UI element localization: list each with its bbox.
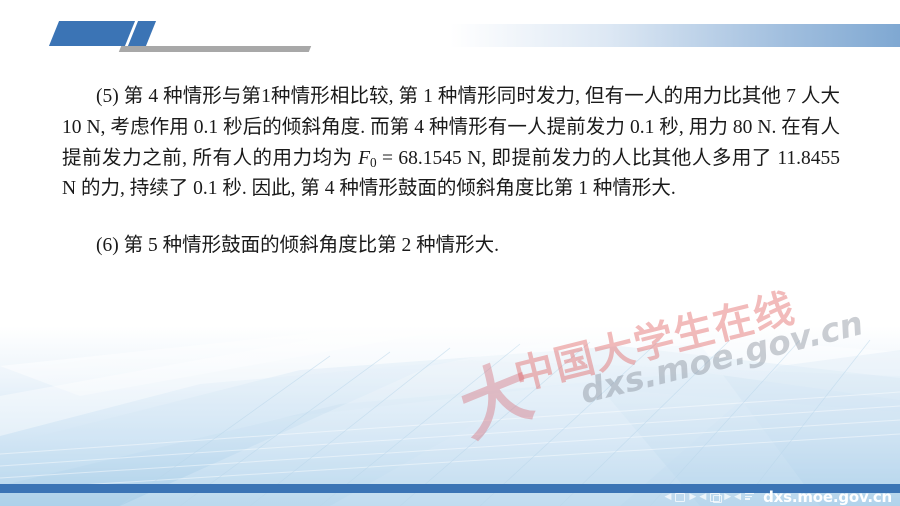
header-gradient-band [450, 24, 900, 47]
footer-url: dxs.moe.gov.cn [763, 490, 892, 505]
presentation-slide: 大 中国大学生在线 dxs.moe.gov.cn (5) 第 4 种情形与第1种… [0, 0, 900, 506]
bottom-background-artwork [0, 326, 900, 506]
slide-content: (5) 第 4 种情形与第1种情形相比较, 第 1 种情形同时发力, 但有一人的… [62, 82, 840, 262]
math-variable-letter: F [358, 148, 370, 169]
paragraph-item-6: (6) 第 5 种情形鼓面的倾斜角度比第 2 种情形大. [62, 231, 840, 262]
nav-prev-section-icon[interactable]: ◀ [734, 493, 741, 502]
logo-underline-bar [119, 46, 311, 52]
nav-subsection-icon[interactable] [710, 493, 720, 502]
logo-parallelogram-icon [49, 21, 135, 46]
nav-prev-frame-icon[interactable]: ◀ [664, 493, 671, 502]
paragraph-text-6: 第 5 种情形鼓面的倾斜角度比第 2 种情形大. [124, 235, 499, 256]
math-expression-rest: = 68.1545 N [382, 148, 481, 169]
nav-next-subsection-icon[interactable]: ▶ [724, 493, 731, 502]
math-subscript: 0 [370, 155, 377, 170]
footer-navigation[interactable]: ◀ ▶ ◀ ▶ ◀ dxs.moe.gov.cn [664, 488, 892, 506]
paragraph-marker-5: (5) [96, 86, 119, 107]
paragraph-marker-6: (6) [96, 235, 119, 256]
paragraph-item-5: (5) 第 4 种情形与第1种情形相比较, 第 1 种情形同时发力, 但有一人的… [62, 82, 840, 205]
nav-section-icon[interactable] [745, 493, 754, 501]
nav-prev-subsection-icon[interactable]: ◀ [699, 493, 706, 502]
math-variable-F0: F0 [358, 148, 377, 169]
nav-frame-icon[interactable] [675, 493, 685, 502]
nav-next-frame-icon[interactable]: ▶ [689, 493, 696, 502]
